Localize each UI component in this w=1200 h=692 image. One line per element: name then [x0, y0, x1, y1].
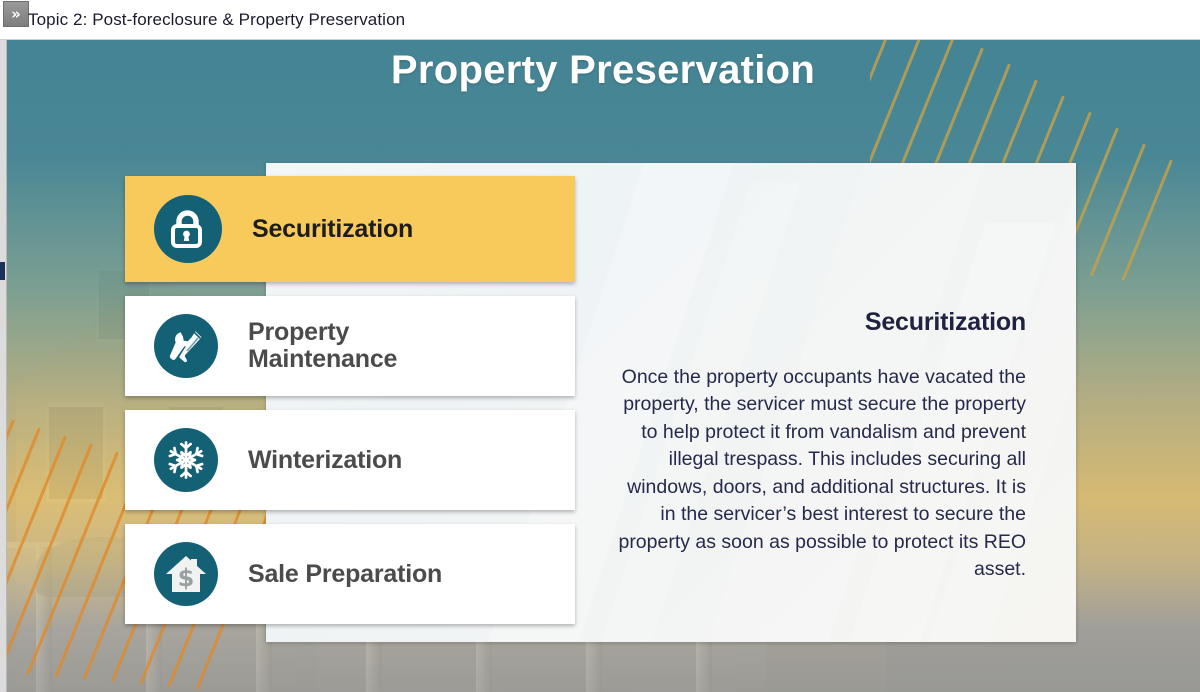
title-bar: » Topic 2: Post-foreclosure & Property P… — [0, 0, 1200, 40]
accordion-tab-label: Sale Preparation — [248, 561, 442, 588]
slide-title: Property Preservation — [6, 48, 1200, 93]
slide-stage: Property Preservation Securitization Pro… — [6, 40, 1200, 692]
slide-viewer: » Topic 2: Post-foreclosure & Property P… — [0, 0, 1200, 692]
accordion-tab-list: Securitization PropertyMaintenance — [125, 176, 575, 638]
house-dollar-icon: $ — [164, 553, 208, 595]
svg-text:$: $ — [178, 564, 195, 592]
snowflake-icon — [165, 439, 207, 481]
accordion-tab-label: Securitization — [252, 216, 413, 243]
page-scroll-rail[interactable] — [0, 40, 7, 692]
topic-title: Topic 2: Post-foreclosure & Property Pre… — [28, 10, 405, 30]
accordion-tab-sale-preparation[interactable]: $ Sale Preparation — [125, 524, 575, 624]
accordion-tab-winterization[interactable]: Winterization — [125, 410, 575, 510]
page-scroll-thumb[interactable] — [0, 262, 5, 280]
accordion-tab-securitization[interactable]: Securitization — [125, 176, 575, 282]
padlock-icon — [154, 195, 222, 263]
detail-title: Securitization — [614, 308, 1026, 337]
expand-sidebar-button[interactable]: » — [3, 1, 29, 27]
detail-body: Once the property occupants have vacated… — [614, 364, 1026, 584]
tools-icon — [154, 314, 218, 378]
accordion-tab-label: Winterization — [248, 447, 402, 474]
accordion-tab-property-maintenance[interactable]: PropertyMaintenance — [125, 296, 575, 396]
padlock-icon — [168, 208, 208, 250]
tools-icon — [165, 325, 207, 367]
accordion-tab-label: PropertyMaintenance — [248, 319, 397, 373]
detail-pane: Securitization Once the property occupan… — [614, 308, 1026, 584]
house-dollar-icon: $ — [154, 542, 218, 606]
snowflake-icon — [154, 428, 218, 492]
